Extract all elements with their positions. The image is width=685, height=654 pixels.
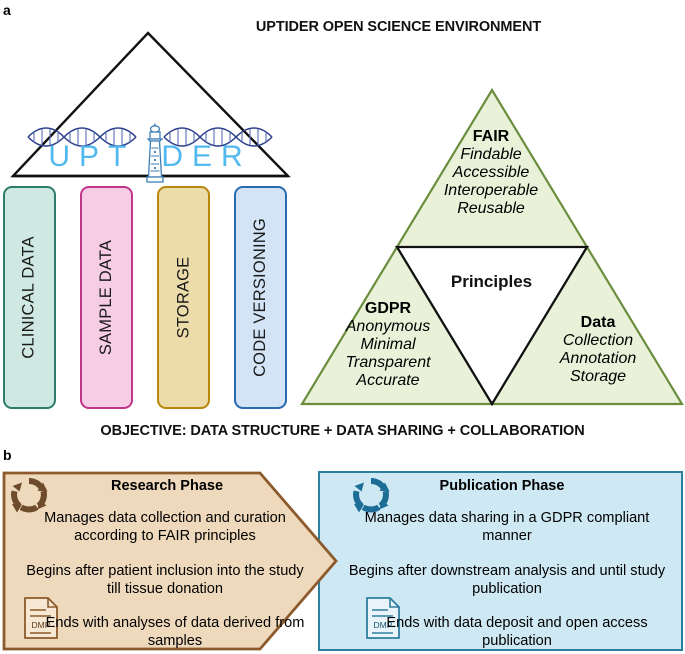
- triangle-center-label: Principles: [414, 272, 569, 291]
- logo-letters-left: UPT: [48, 140, 135, 174]
- section-heading: GDPR: [318, 300, 458, 318]
- publication-phase-line: Manages data sharing in a GDPR compliant…: [342, 510, 672, 546]
- section-item: Findable: [393, 146, 589, 164]
- pillar-label: STORAGE: [174, 257, 193, 339]
- section-item: Accessible: [393, 164, 589, 182]
- publication-phase-line: Begins after downstream analysis and unt…: [342, 563, 672, 599]
- research-phase-line: Manages data collection and curation acc…: [20, 510, 310, 546]
- research-phase-line: Begins after patient inclusion into the …: [20, 563, 310, 599]
- objective-statement: OBJECTIVE: DATA STRUCTURE + DATA SHARING…: [0, 423, 685, 439]
- uptider-house-diagram: UPTDER CLINICAL DATA S: [0, 25, 300, 410]
- publication-phase-title: Publication Phase: [342, 478, 662, 494]
- pillar-clinical-data[interactable]: CLINICAL DATA: [3, 186, 56, 409]
- pillar-label: CLINICAL DATA: [20, 236, 39, 358]
- pillar-storage[interactable]: STORAGE: [157, 186, 210, 409]
- pillar-label: SAMPLE DATA: [97, 240, 116, 355]
- panel-label-a: a: [3, 2, 11, 18]
- section-heading: FAIR: [393, 128, 589, 146]
- section-item: Reusable: [393, 200, 589, 218]
- research-phase-line: Ends with analyses of data derived from …: [40, 615, 310, 651]
- section-item: Storage: [528, 368, 668, 386]
- section-item: Accurate: [318, 372, 458, 390]
- lighthouse-icon: [140, 123, 170, 185]
- panel-label-b: b: [3, 447, 12, 463]
- pillar-sample-data[interactable]: SAMPLE DATA: [80, 186, 133, 409]
- section-item: Interoperable: [393, 182, 589, 200]
- section-item: Collection: [528, 332, 668, 350]
- section-item: Minimal: [318, 336, 458, 354]
- triangle-section-gdpr: GDPR Anonymous Minimal Transparent Accur…: [318, 300, 458, 390]
- triangle-section-fair: FAIR Findable Accessible Interoperable R…: [393, 128, 589, 218]
- logo-letters-right: DER: [161, 140, 251, 174]
- pillar-code-versioning[interactable]: CODE VERSIONING: [234, 186, 287, 409]
- phases-flow-diagram: DMP DMP Research Phase Manages data coll…: [2, 471, 683, 651]
- pillar-label: CODE VERSIONING: [251, 218, 270, 377]
- triangle-section-data: Data Collection Annotation Storage: [528, 314, 668, 386]
- section-item: Anonymous: [318, 318, 458, 336]
- section-heading: Data: [528, 314, 668, 332]
- research-phase-title: Research Phase: [22, 478, 312, 494]
- principles-triangle-diagram: FAIR Findable Accessible Interoperable R…: [298, 84, 685, 410]
- section-item: Transparent: [318, 354, 458, 372]
- section-item: Annotation: [528, 350, 668, 368]
- publication-phase-line: Ends with data deposit and open access p…: [362, 615, 672, 651]
